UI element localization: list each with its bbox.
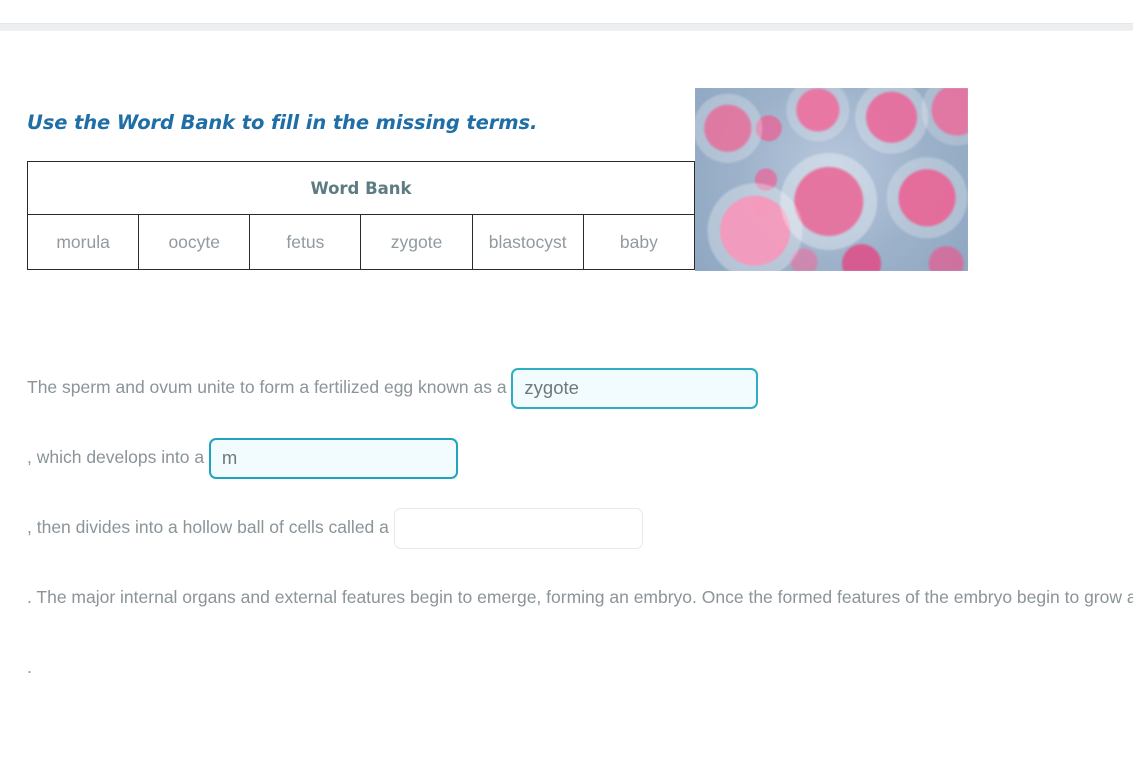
passage-segment-1: The sperm and ovum unite to form a ferti…: [27, 377, 511, 397]
blank-morula-input[interactable]: [209, 438, 458, 479]
page-title: Use the Word Bank to fill in the missing…: [27, 111, 537, 134]
word-bank-term-morula[interactable]: morula: [28, 215, 139, 270]
word-bank-term-zygote[interactable]: zygote: [361, 215, 472, 270]
worksheet-content: Use the Word Bank to fill in the missing…: [0, 0, 1133, 769]
embryonic-cells-image: [695, 88, 968, 271]
cells-image-highlights: [695, 88, 968, 271]
blank-zygote-input[interactable]: [511, 368, 758, 409]
passage-segment-5: .: [27, 657, 32, 677]
word-bank-header-row: Word Bank: [28, 162, 695, 215]
blank-blastocyst-input[interactable]: [394, 508, 643, 549]
word-bank-term-blastocyst[interactable]: blastocyst: [472, 215, 583, 270]
fill-in-the-blank-passage: The sperm and ovum unite to form a ferti…: [27, 352, 977, 702]
word-bank-term-baby[interactable]: baby: [583, 215, 694, 270]
word-bank-terms-row: morula oocyte fetus zygote blastocyst ba…: [28, 215, 695, 270]
passage-segment-4: . The major internal organs and external…: [27, 587, 1133, 607]
passage-segment-2: , which develops into a: [27, 447, 209, 467]
passage-segment-3: , then divides into a hollow ball of cel…: [27, 517, 394, 537]
word-bank-table: Word Bank morula oocyte fetus zygote bla…: [27, 161, 695, 270]
word-bank-header: Word Bank: [28, 162, 695, 215]
word-bank-term-fetus[interactable]: fetus: [250, 215, 361, 270]
word-bank-term-oocyte[interactable]: oocyte: [139, 215, 250, 270]
